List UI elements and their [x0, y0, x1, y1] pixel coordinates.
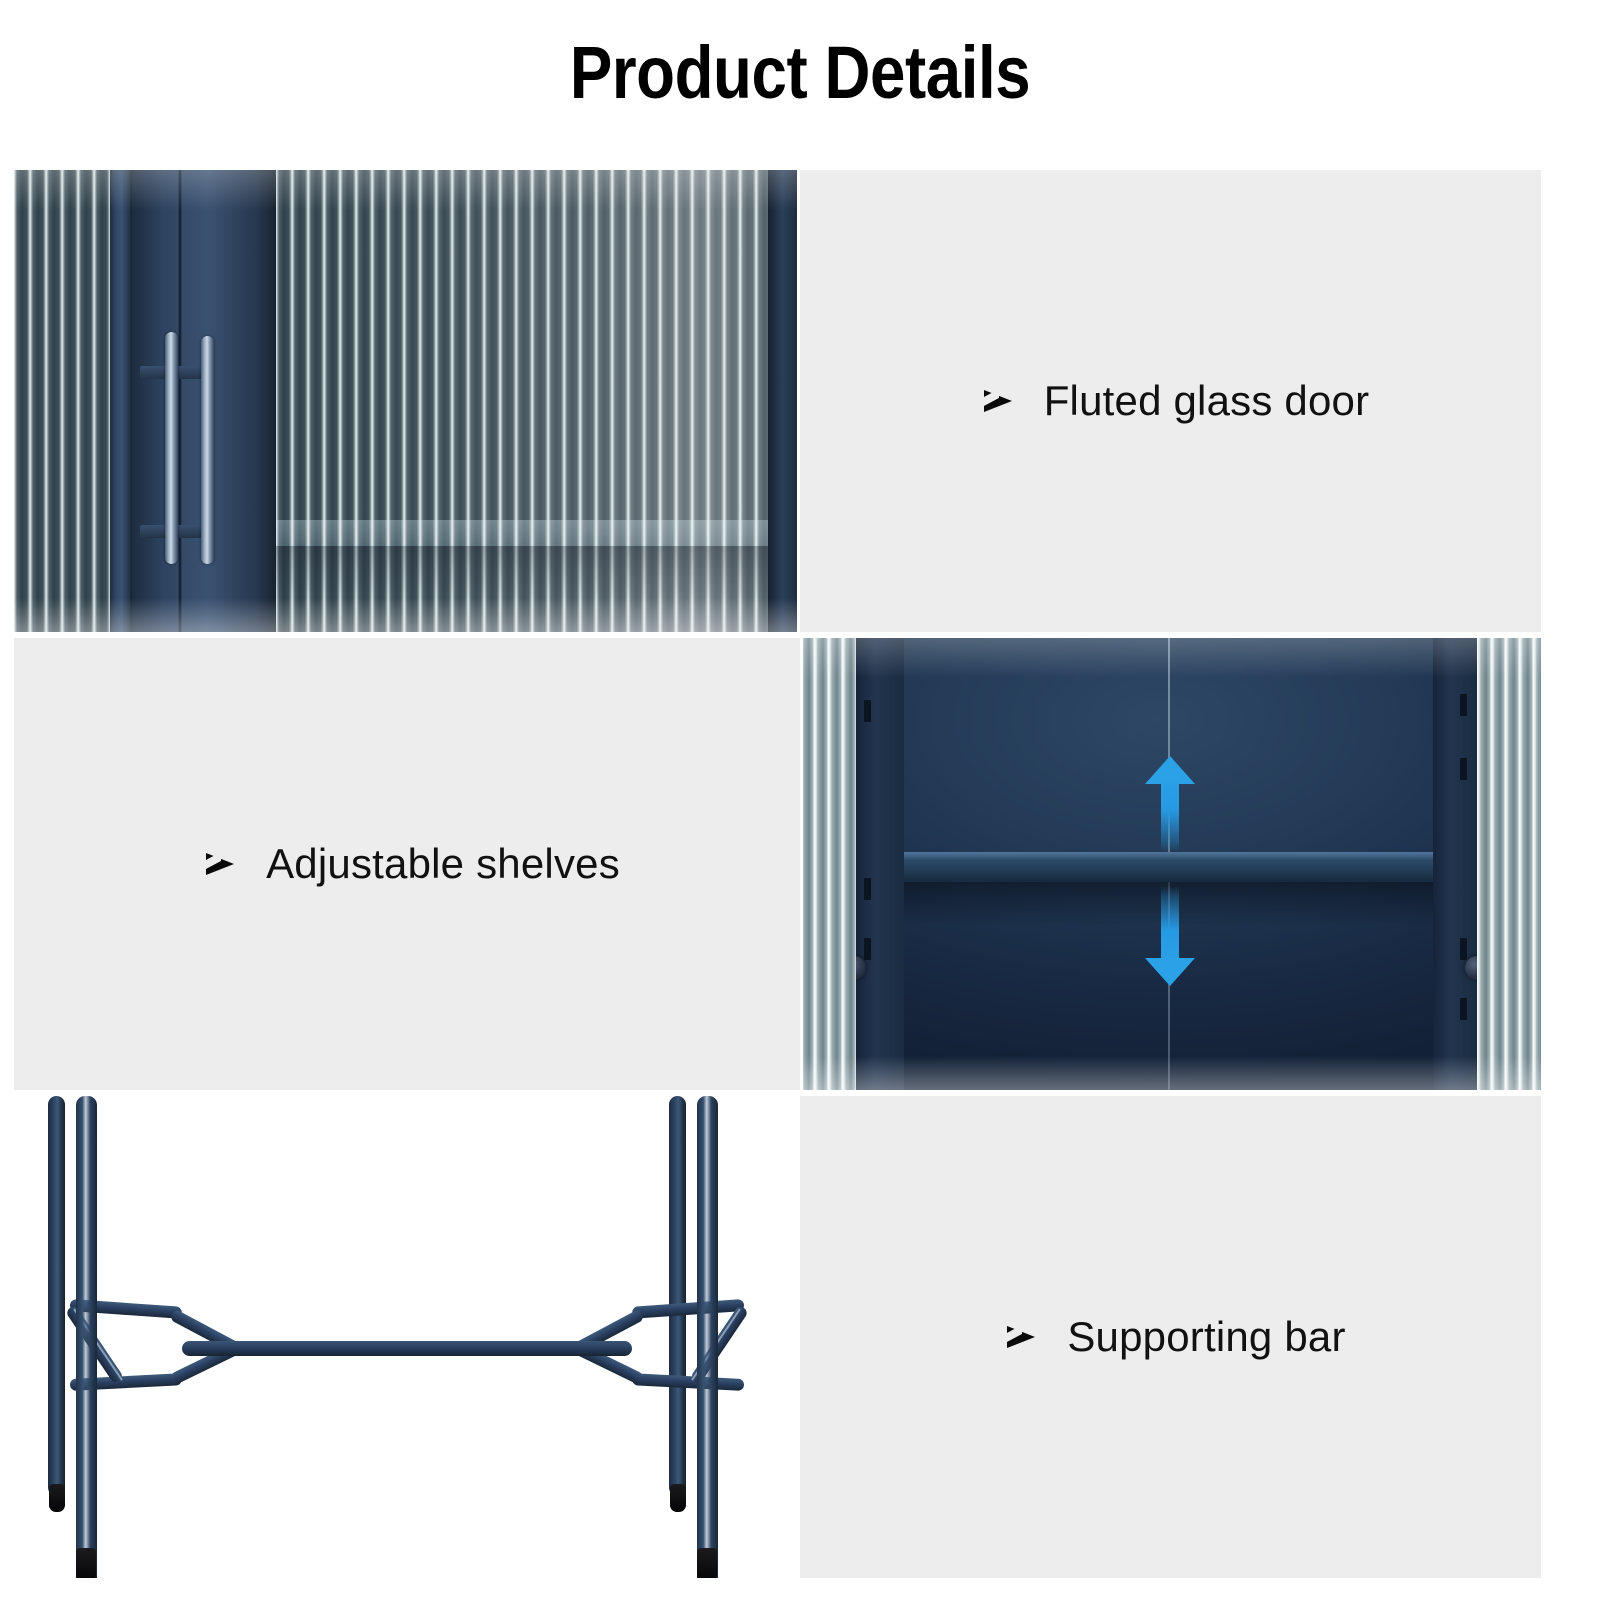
shelf-pin-slot — [1460, 758, 1467, 780]
shelf-adjust-up-arrow-icon — [1145, 756, 1195, 852]
feature-row-adjustable-shelves: Adjustable shelves — [14, 638, 1541, 1090]
arrow-head — [1145, 756, 1195, 784]
feature-label-supporting-bar: Supporting bar — [1067, 1313, 1345, 1361]
door-handle-right — [201, 336, 214, 564]
fluted-glass-left-pane — [14, 170, 110, 632]
shelf-pin-slot — [1460, 998, 1467, 1020]
feature-label-panel-fluted-glass-door: Fluted glass door — [800, 170, 1541, 632]
arrow-head — [1145, 958, 1195, 986]
interior-shelf-reflection — [276, 520, 800, 546]
leg-foot-cap — [49, 1484, 65, 1512]
fluted-glass-door-edge-left — [800, 638, 856, 1090]
page-title: Product Details — [112, 34, 1488, 112]
feature-label-fluted-glass-door: Fluted glass door — [1044, 377, 1370, 425]
feature-label-panel-supporting-bar: Supporting bar — [800, 1096, 1541, 1578]
supporting-bar — [182, 1341, 632, 1356]
cabinet-side-wall-right — [1433, 638, 1477, 1090]
supporting-bar-legs-photo — [14, 1096, 800, 1578]
fluted-glass-door-photo — [14, 170, 800, 632]
feature-row-supporting-bar: Supporting bar — [14, 1096, 1541, 1578]
shelf-pin-slot — [864, 938, 871, 960]
leg-foot-cap — [76, 1548, 96, 1578]
shelf-pin-slot — [864, 878, 871, 900]
right-arrow-icon — [204, 849, 244, 879]
feature-label-panel-adjustable-shelves: Adjustable shelves — [14, 638, 800, 1090]
adjustable-shelf-front-edge — [904, 852, 1433, 860]
cabinet-leg-front-left — [76, 1096, 97, 1578]
door-center-seam — [178, 170, 182, 632]
cabinet-legs-scene — [14, 1096, 800, 1578]
cabinet-leg-front-right — [697, 1096, 718, 1578]
feature-row-fluted-glass-door: Fluted glass door — [14, 170, 1541, 632]
cabinet-interior-scene — [800, 638, 1541, 1090]
shelf-adjust-down-arrow-icon — [1145, 886, 1195, 986]
right-arrow-icon — [982, 386, 1022, 416]
arrow-shaft — [1161, 886, 1179, 960]
fluted-glass-door-edge-right — [1477, 638, 1541, 1090]
shelf-pin-slot — [1460, 938, 1467, 960]
shelf-pin-slot — [1460, 694, 1467, 716]
interior-shelf-shadow — [276, 546, 800, 606]
leg-foot-cap — [697, 1548, 717, 1578]
door-handle-left — [165, 332, 178, 564]
feature-label-adjustable-shelves: Adjustable shelves — [266, 840, 620, 888]
cabinet-leg-back-right — [669, 1096, 686, 1496]
cabinet-interior-adjustable-shelf-photo — [800, 638, 1541, 1090]
door-stile-left — [110, 170, 132, 632]
shelf-pin-slot — [864, 700, 871, 722]
support-brace-right-top — [632, 1299, 745, 1319]
right-arrow-icon — [1005, 1322, 1045, 1352]
leg-foot-cap — [670, 1484, 686, 1512]
door-stile-right — [768, 170, 800, 632]
cabinet-leg-back-left — [48, 1096, 65, 1496]
fluted-glass-door-scene — [14, 170, 800, 632]
support-brace-right-bottom — [632, 1373, 744, 1391]
arrow-shaft — [1161, 782, 1179, 852]
